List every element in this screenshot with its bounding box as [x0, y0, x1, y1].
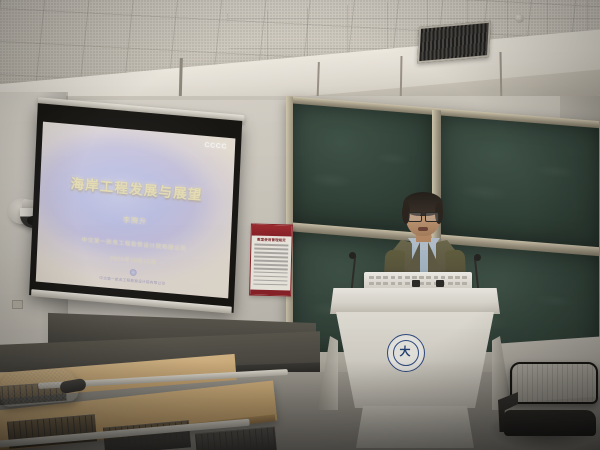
control-key[interactable]	[405, 276, 410, 279]
poster-footer-bar	[250, 289, 290, 295]
projection-screen: CCCC 海岸工程发展与展望 李腾升 中交第一航务工程勘察设计院有限公司 202…	[29, 103, 242, 321]
control-key[interactable]	[391, 282, 396, 285]
office-chair[interactable]	[498, 352, 600, 450]
presenter-mouth	[418, 227, 428, 231]
control-key[interactable]	[462, 282, 467, 285]
control-key[interactable]	[426, 282, 431, 285]
control-key[interactable]	[455, 282, 460, 285]
poster-text-lines	[253, 244, 288, 288]
control-key[interactable]	[441, 276, 446, 279]
poster-header-bar	[252, 224, 292, 236]
control-key[interactable]	[391, 276, 396, 279]
university-emblem-mark: 大	[398, 345, 412, 359]
air-vent-icon	[417, 21, 491, 64]
control-key[interactable]	[398, 282, 403, 285]
lectern-podium[interactable]: 大	[330, 288, 500, 450]
microphone-head	[349, 252, 356, 259]
wall-notice-poster: 教室使用管理规定	[249, 223, 293, 296]
control-button-large[interactable]	[412, 280, 420, 287]
control-key[interactable]	[455, 276, 460, 279]
chair-seat	[504, 410, 596, 436]
podium-base	[356, 406, 474, 448]
control-key-row[interactable]	[369, 276, 467, 279]
podium-control-panel[interactable]	[364, 272, 472, 290]
glasses-icon	[408, 212, 422, 222]
glasses-bridge	[420, 215, 425, 216]
sprinkler-icon	[515, 14, 524, 23]
control-button-large[interactable]	[436, 280, 444, 287]
screen-surface: CCCC 海岸工程发展与展望 李腾升 中交第一航务工程勘察设计院有限公司 202…	[36, 122, 236, 299]
control-key[interactable]	[376, 282, 381, 285]
control-key[interactable]	[383, 276, 388, 279]
poster-title: 教室使用管理规定	[251, 236, 291, 242]
control-key[interactable]	[369, 276, 374, 279]
control-key[interactable]	[426, 276, 431, 279]
chair-backrest	[510, 362, 598, 404]
control-key[interactable]	[405, 282, 410, 285]
control-key[interactable]	[376, 276, 381, 279]
control-key[interactable]	[412, 276, 417, 279]
podium-top-surface	[330, 288, 500, 314]
lecture-hall-photo: 教室使用管理规定 CCCC 海岸工程发展与展望 李腾升 中交第一航务工程勘察设计…	[0, 0, 600, 450]
glasses-icon	[425, 212, 439, 222]
control-key[interactable]	[419, 276, 424, 279]
control-key[interactable]	[434, 276, 439, 279]
wall-outlet[interactable]	[12, 300, 23, 309]
control-key[interactable]	[462, 276, 467, 279]
microphone-head	[474, 254, 481, 261]
control-key[interactable]	[383, 282, 388, 285]
control-key[interactable]	[398, 276, 403, 279]
control-key[interactable]	[448, 282, 453, 285]
control-key[interactable]	[448, 276, 453, 279]
control-key[interactable]	[369, 282, 374, 285]
